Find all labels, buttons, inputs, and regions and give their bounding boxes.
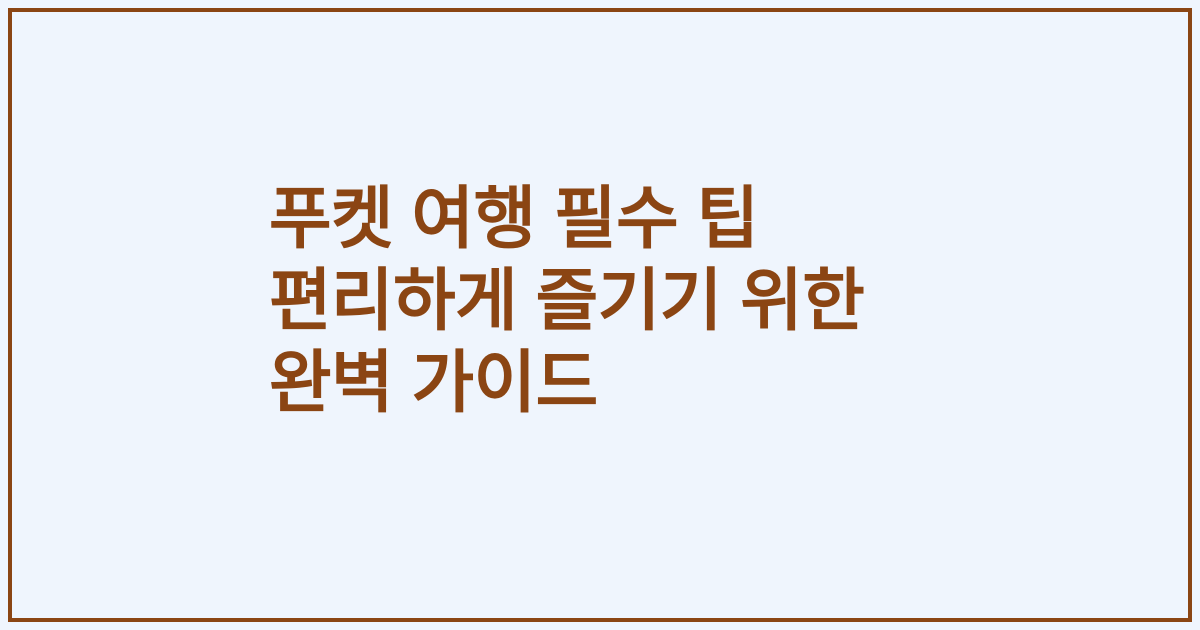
title-line-2: 편리하게 즐기기 위한	[269, 260, 1149, 342]
page-title: 푸켓 여행 필수 팁 편리하게 즐기기 위한 완벽 가이드	[269, 178, 1149, 424]
thumbnail-canvas: 푸켓 여행 필수 팁 편리하게 즐기기 위한 완벽 가이드	[0, 0, 1200, 630]
title-line-3: 완벽 가이드	[269, 342, 1149, 424]
title-line-1: 푸켓 여행 필수 팁	[269, 178, 1149, 260]
